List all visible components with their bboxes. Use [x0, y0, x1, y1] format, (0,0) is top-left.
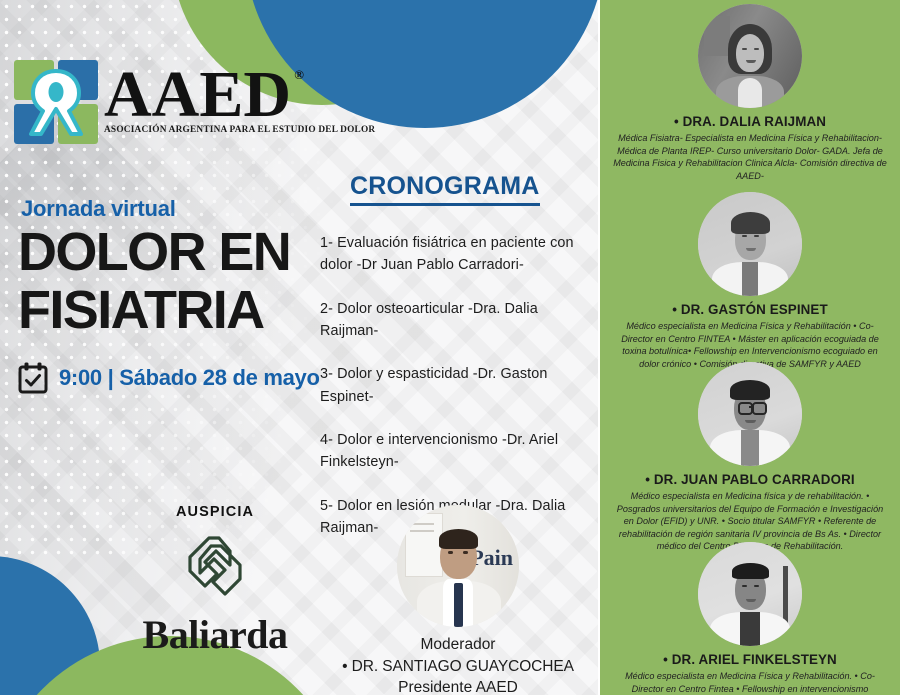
sponsor-block: AUSPICIA Baliarda [95, 504, 335, 658]
hero-title-line-2: FISIATRIA [18, 286, 290, 336]
aaed-logo-text: AAED ® ASOCIACIÓN ARGENTINA PARA EL ESTU… [104, 60, 375, 135]
speaker-bio: Médica Fisiatra- Especialista en Medicin… [612, 132, 888, 182]
moderator-name: • DR. SANTIAGO GUAYCOCHEA [318, 658, 598, 676]
schedule-item: 3- Dolor y espasticidad -Dr. Gaston Espi… [320, 363, 582, 408]
sponsor-name: Baliarda [95, 611, 335, 658]
aaed-logo: AAED ® ASOCIACIÓN ARGENTINA PARA EL ESTU… [14, 60, 375, 144]
speaker-name: • DR. JUAN PABLO CARRADORI [600, 472, 900, 487]
speaker-portrait-illustration [698, 542, 802, 646]
speaker-avatar [698, 542, 802, 646]
moderator-portrait-illustration: Pain [397, 505, 519, 627]
sponsor-label: AUSPICIA [95, 504, 335, 520]
event-datetime: 9:00 | Sábado 28 de mayo [18, 362, 320, 394]
hero-headline: Jornada virtual DOLOR EN FISIATRIA [18, 196, 290, 335]
speaker-portrait-illustration [698, 4, 802, 108]
hero-title-line-1: DOLOR EN [18, 222, 290, 282]
speaker-avatar [698, 4, 802, 108]
moderator-avatar: Pain [397, 505, 519, 627]
aaed-wordmark: AAED ® [104, 68, 291, 122]
event-datetime-text: 9:00 | Sábado 28 de mayo [59, 365, 320, 391]
speaker-portrait-illustration [698, 192, 802, 296]
left-content-panel: AAED ® ASOCIACIÓN ARGENTINA PARA EL ESTU… [0, 0, 598, 695]
aaed-logo-mark [14, 60, 98, 144]
event-poster: AAED ® ASOCIACIÓN ARGENTINA PARA EL ESTU… [0, 0, 900, 695]
speaker-name: • DR. ARIEL FINKELSTEYN [600, 652, 900, 667]
speaker-card: • DR. ARIEL FINKELSTEYN Médico especiali… [600, 542, 900, 695]
schedule-section: CRONOGRAMA 1- Evaluación fisiátrica en p… [320, 172, 582, 560]
speaker-card: • DRA. DALIA RAIJMAN Médica Fisiatra- Es… [600, 4, 900, 182]
speaker-portrait-illustration [698, 362, 802, 466]
speaker-bio: Médico especialista en Medicina Física y… [612, 670, 888, 695]
schedule-list: 1- Evaluación fisiátrica en paciente con… [320, 232, 582, 539]
speakers-sidebar: • DRA. DALIA RAIJMAN Médica Fisiatra- Es… [600, 0, 900, 695]
schedule-title: CRONOGRAMA [350, 172, 540, 206]
speaker-name: • DR. GASTÓN ESPINET [600, 302, 900, 317]
speaker-name: • DRA. DALIA RAIJMAN [600, 114, 900, 129]
aaed-wordmark-text: AAED [104, 58, 291, 131]
speaker-card: • DR. GASTÓN ESPINET Médico especialista… [600, 192, 900, 370]
speaker-card: • DR. JUAN PABLO CARRADORI Médico especi… [600, 362, 900, 553]
registered-trademark-icon: ® [294, 70, 304, 81]
speaker-avatar [698, 362, 802, 466]
moderator-role: Moderador [318, 636, 598, 654]
schedule-item: 4- Dolor e intervencionismo -Dr. Ariel F… [320, 429, 582, 474]
ribbon-person-icon [26, 68, 86, 138]
baliarda-knot-icon [178, 528, 252, 604]
speaker-avatar [698, 192, 802, 296]
schedule-item: 2- Dolor osteoarticular -Dra. Dalia Raij… [320, 298, 582, 343]
calendar-check-icon [18, 362, 48, 394]
moderator-block: Pain Moderador • DR. SANTIAGO GUAYCOCHEA… [318, 505, 598, 695]
moderator-position: Presidente AAED [318, 679, 598, 695]
hero-kicker: Jornada virtual [21, 196, 290, 222]
schedule-item: 1- Evaluación fisiátrica en paciente con… [320, 232, 582, 277]
hero-title: DOLOR EN FISIATRIA [18, 228, 290, 335]
